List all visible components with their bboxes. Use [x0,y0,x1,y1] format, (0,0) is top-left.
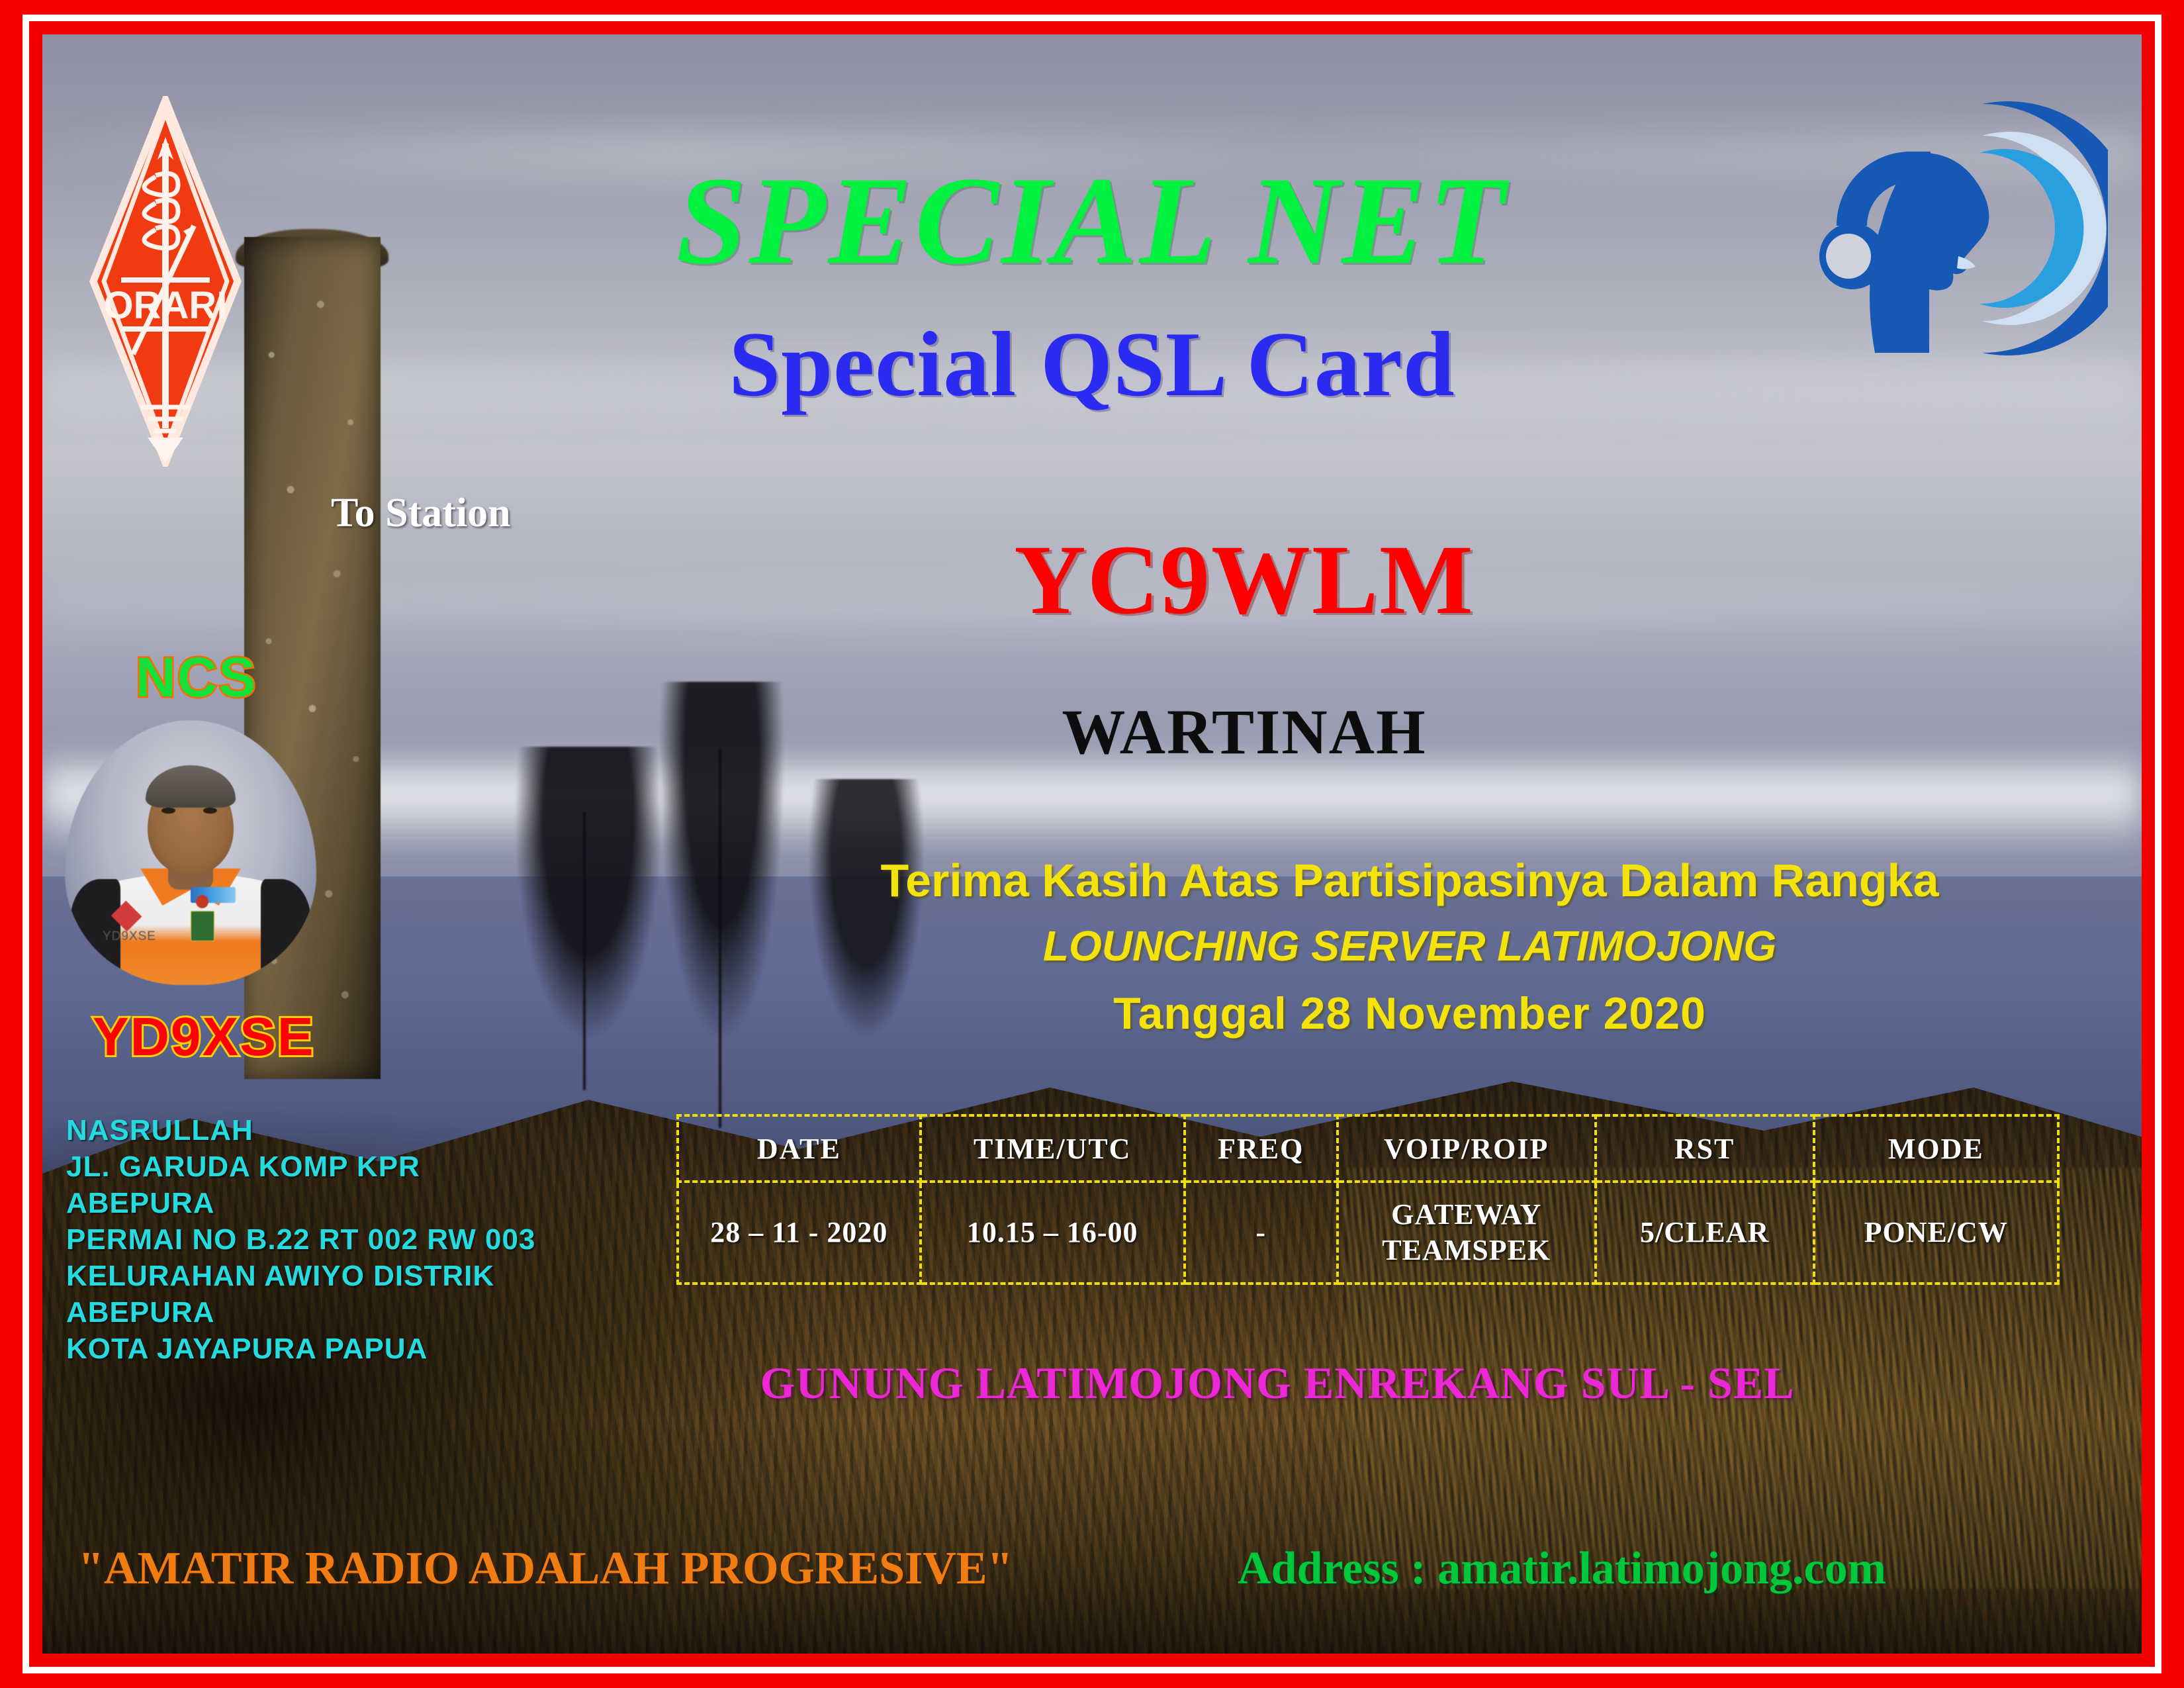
ncs-callsign: YD9XSE [93,1006,315,1068]
address-line-7: KOTA JAYAPURA PAPUA [66,1331,535,1367]
cell-mode: PONE/CW [1814,1182,2058,1284]
cell-voip-line-2: TEAMSPEK [1382,1234,1551,1266]
portrait-shirt-sleeve-right [261,879,311,985]
recipient-operator-name: WARTINAH [913,695,1575,769]
footer-motto: "AMATIR RADIO ADALAH PROGRESIVE" [78,1542,1013,1595]
qso-details-table: DATE TIME/UTC FREQ VOIP/ROIP RST MODE 28… [676,1114,2060,1285]
table-header-date: DATE [678,1115,921,1182]
table-header-freq: FREQ [1185,1115,1338,1182]
table-header-row: DATE TIME/UTC FREQ VOIP/ROIP RST MODE [678,1115,2058,1182]
cell-rst: 5/CLEAR [1596,1182,1814,1284]
thanks-line-1: Terima Kasih Atas Partisipasinya Dalam R… [741,854,2078,907]
ncs-operator-portrait: YD9XSE [65,720,316,985]
address-line-1: NASRULLAH [66,1112,535,1149]
sender-address: NASRULLAH JL. GARUDA KOMP KPR ABEPURA PE… [66,1112,535,1367]
thanks-line-2: LOUNCHING SERVER LATIMOJONG [741,921,2078,970]
table-header-time: TIME/UTC [921,1115,1185,1182]
address-line-5: KELURAHAN AWIYO DISTRIK [66,1258,535,1294]
qsl-card-outer-frame: ORARI [0,0,2184,1688]
footer-website: Address : amatir.latimojong.com [1238,1542,1886,1595]
portrait-badge-clip [196,895,208,908]
cell-date: 28 – 11 - 2020 [678,1182,921,1284]
address-line-3: ABEPURA [66,1185,535,1221]
location-caption: GUNUNG LATIMOJONG ENREKANG SUL - SEL [649,1357,1906,1409]
address-line-6: ABEPURA [66,1294,535,1331]
portrait-id-badge [191,911,214,941]
cell-freq: - [1185,1182,1338,1284]
page-subtitle: Special QSL Card [0,311,2184,418]
page-title: SPECIAL NET [0,149,2184,293]
cell-time: 10.15 – 16-00 [921,1182,1185,1284]
to-station-label: To Station [331,490,511,537]
cell-voip-line-1: GATEWAY [1391,1198,1541,1231]
portrait-eye-left [161,808,175,814]
table-header-voip: VOIP/ROIP [1338,1115,1596,1182]
portrait-shirt-callsign: YD9XSE [103,929,156,944]
table-row: 28 – 11 - 2020 10.15 – 16-00 - GATEWAY T… [678,1182,2058,1284]
address-line-2: JL. GARUDA KOMP KPR [66,1149,535,1185]
thanks-line-3: Tanggal 28 November 2020 [741,988,2078,1039]
thanks-message: Terima Kasih Atas Partisipasinya Dalam R… [741,854,2078,1039]
address-line-4: PERMAI NO B.22 RT 002 RW 003 [66,1221,535,1258]
portrait-eye-right [203,808,217,814]
cell-voip: GATEWAY TEAMSPEK [1338,1182,1596,1284]
table-header-rst: RST [1596,1115,1814,1182]
tree-silhouette-1 [504,747,672,1070]
ncs-label: NCS [136,645,257,710]
table-header-mode: MODE [1814,1115,2058,1182]
recipient-callsign: YC9WLM [913,523,1575,637]
